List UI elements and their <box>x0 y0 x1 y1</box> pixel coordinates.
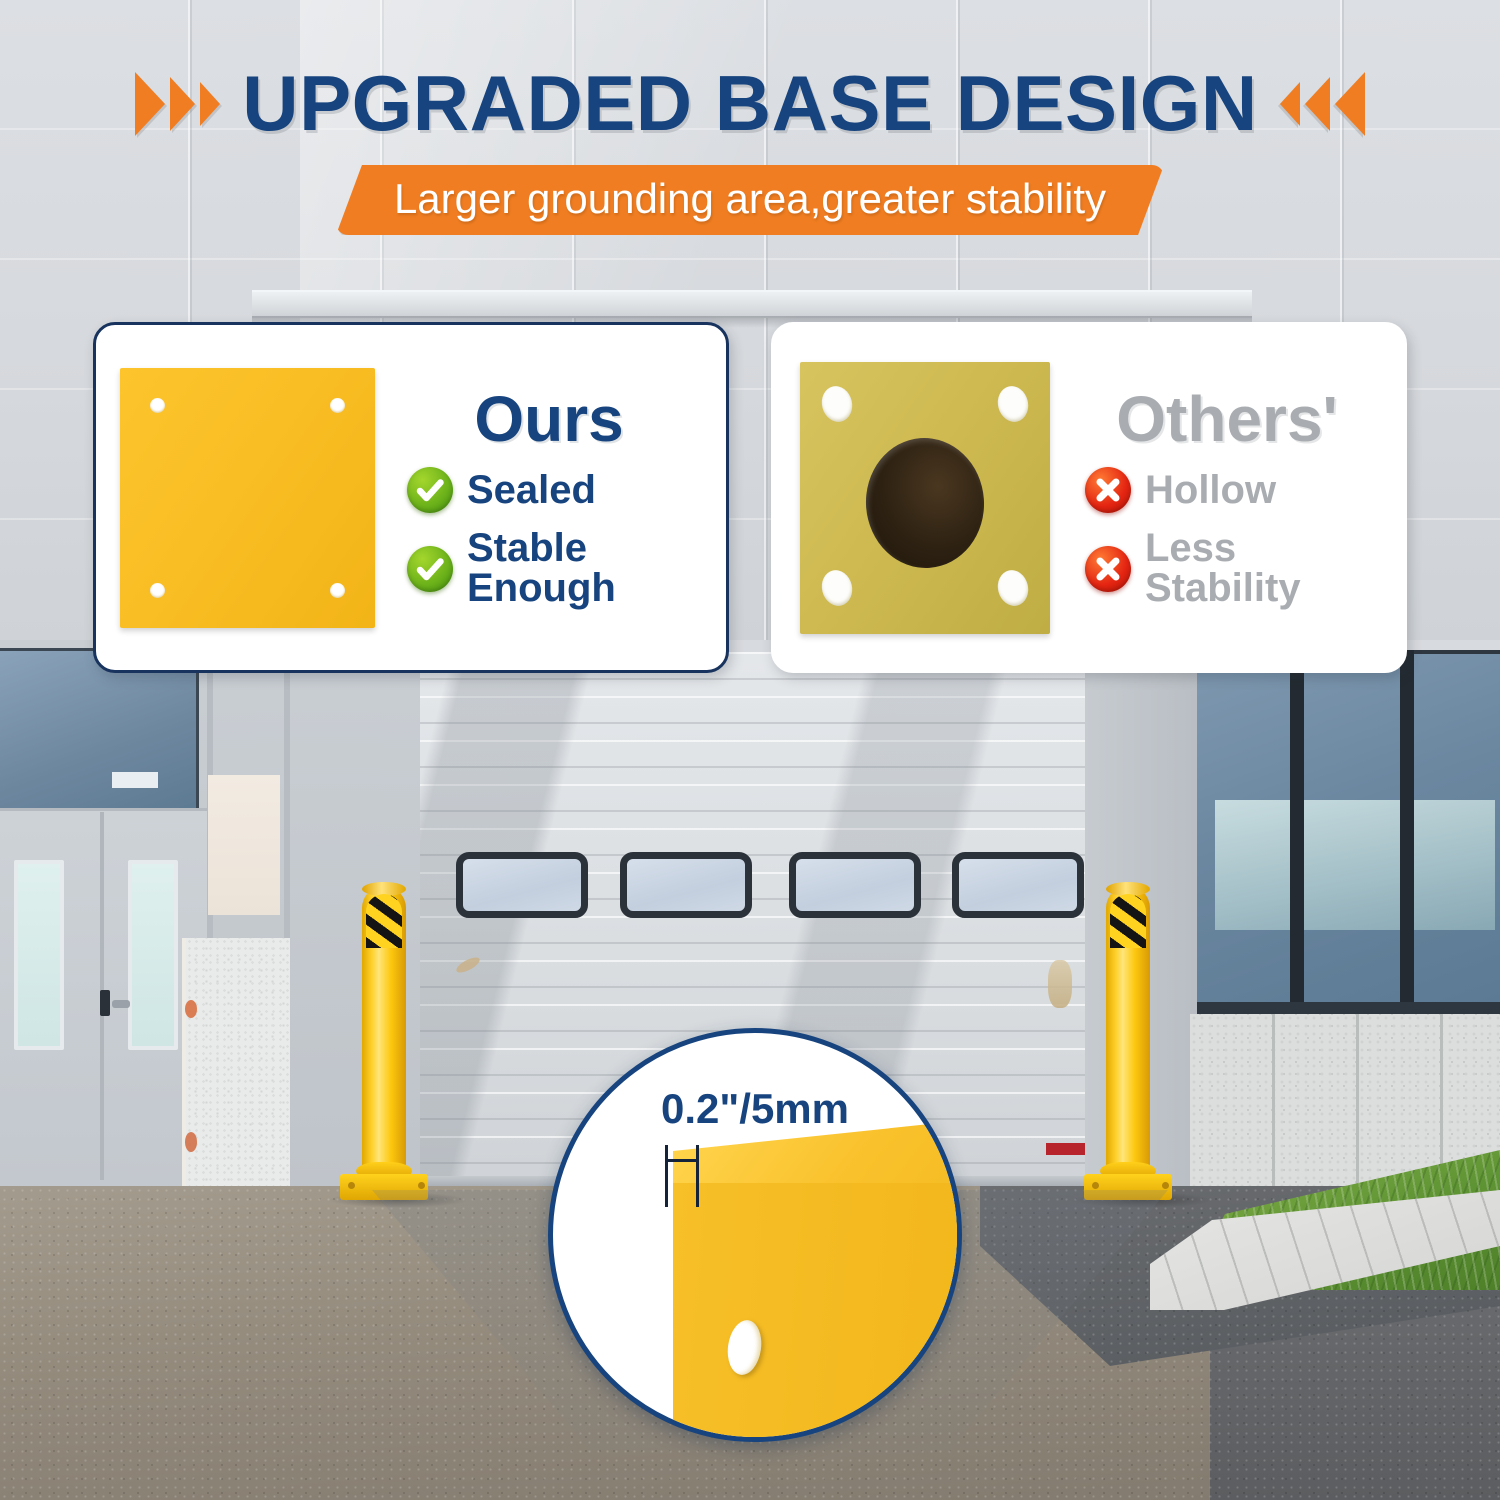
bolt-hole <box>994 382 1032 424</box>
others-bullets: Hollow Less Stability <box>1067 467 1387 607</box>
bullet-item: Less Stability <box>1085 529 1387 607</box>
door-window <box>952 852 1084 918</box>
chevron-left-icon <box>1335 72 1365 136</box>
door-glass-left <box>14 860 64 1050</box>
thickness-bracket-icon <box>665 1145 699 1207</box>
check-circle-icon <box>407 467 453 513</box>
base-bolt <box>1092 1182 1099 1189</box>
magnified-plate-face <box>673 1183 962 1442</box>
concrete-seam <box>1356 1014 1359 1204</box>
subtitle-banner: Larger grounding area,greater stability <box>336 165 1164 235</box>
bullet-label: Stable Enough <box>467 529 709 607</box>
cross-circle-icon <box>1085 467 1131 513</box>
window-mullion <box>1400 650 1414 1002</box>
page-title: UPGRADED BASE DESIGN <box>242 58 1257 149</box>
door-window <box>456 852 588 918</box>
base-bolt <box>348 1182 355 1189</box>
comparison-cards: Ours Sealed Stable Enough <box>0 322 1500 673</box>
cross-circle-icon <box>1085 546 1131 592</box>
thickness-label: 0.2"/5mm <box>553 1085 957 1133</box>
base-bolt <box>1162 1182 1169 1189</box>
ground-debris <box>1048 960 1072 1008</box>
glazing-reflection <box>1215 800 1495 930</box>
concrete-seam <box>1272 1014 1275 1204</box>
others-heading: Others' <box>1116 387 1338 451</box>
card-ours: Ours Sealed Stable Enough <box>93 322 729 673</box>
window-mullion <box>1290 650 1304 1002</box>
card-others: Others' Hollow Less Stability <box>771 322 1407 673</box>
others-plate-wrap <box>774 362 1076 634</box>
hazard-stripe-icon <box>1110 894 1146 948</box>
bullet-item: Stable Enough <box>407 529 709 607</box>
ours-heading: Ours <box>474 387 623 451</box>
chevron-left-icon <box>1280 82 1300 126</box>
chevron-left-icon <box>1305 77 1330 131</box>
bolt-hole <box>330 583 345 598</box>
stucco-base-panel <box>186 938 290 1186</box>
bullet-item: Hollow <box>1085 467 1387 513</box>
bullet-label: Sealed <box>467 471 596 510</box>
door-glass-right <box>128 860 178 1050</box>
bolt-hole <box>994 566 1032 608</box>
glazing-sill <box>1197 1002 1500 1014</box>
bolt-hole <box>818 566 856 608</box>
chevron-right-icon <box>170 77 195 131</box>
bullet-label: Hollow <box>1145 471 1276 510</box>
ours-text: Ours Sealed Stable Enough <box>398 387 726 607</box>
rust-spot <box>185 1000 197 1018</box>
chevron-right-icon <box>135 72 165 136</box>
bolt-hole <box>150 398 165 413</box>
bullet-item: Sealed <box>407 467 709 513</box>
header: UPGRADED BASE DESIGN Larger grounding ar… <box>0 58 1500 235</box>
ours-base-plate-image <box>120 368 375 628</box>
product-infographic: UPGRADED BASE DESIGN Larger grounding ar… <box>0 0 1500 1500</box>
ours-bullets: Sealed Stable Enough <box>389 467 709 607</box>
chevron-left-triple-icon <box>1280 72 1365 136</box>
rust-spot <box>185 1132 197 1152</box>
others-text: Others' Hollow Less Stability <box>1076 387 1404 607</box>
bolt-hole <box>818 382 856 424</box>
beige-wall-patch <box>208 775 280 915</box>
hazard-stripe-icon <box>366 894 402 948</box>
check-circle-icon <box>407 546 453 592</box>
door-lintel <box>252 290 1252 318</box>
red-wall-label <box>1046 1143 1088 1155</box>
hollow-center-opening <box>862 434 989 572</box>
door-handle <box>112 1000 130 1008</box>
bullet-label: Less Stability <box>1145 529 1387 607</box>
door-window <box>789 852 921 918</box>
chevron-right-triple-icon <box>135 72 220 136</box>
others-base-plate-image <box>800 362 1050 634</box>
thickness-magnifier: 0.2"/5mm <box>548 1028 962 1442</box>
ours-plate-wrap <box>96 368 398 628</box>
chevron-right-icon <box>200 82 220 126</box>
base-bolt <box>418 1182 425 1189</box>
bolt-hole <box>150 583 165 598</box>
title-row: UPGRADED BASE DESIGN <box>0 58 1500 149</box>
subtitle-row: Larger grounding area,greater stability <box>0 165 1500 235</box>
bolt-hole <box>330 398 345 413</box>
door-window <box>620 852 752 918</box>
window-lamps <box>112 772 158 788</box>
door-lock <box>100 990 110 1016</box>
